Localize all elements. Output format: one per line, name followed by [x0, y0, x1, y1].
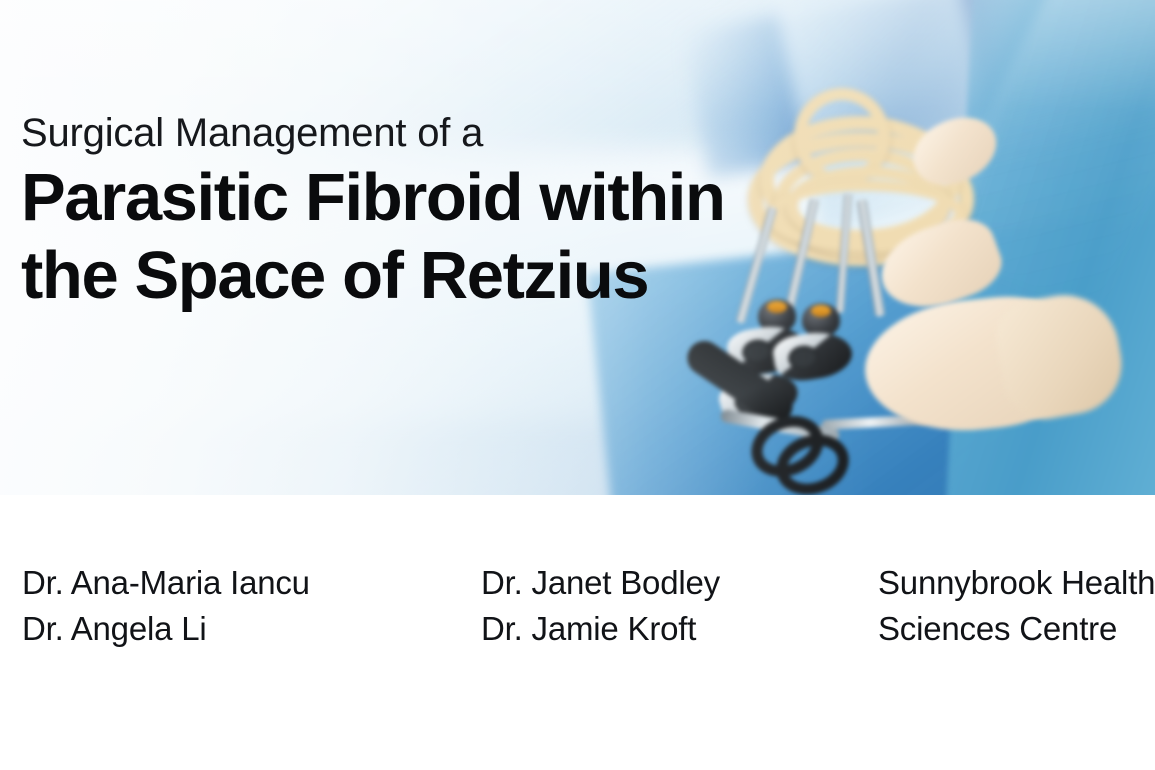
institution-name-line-1: Sunnybrook Health — [878, 560, 1155, 606]
credits-row: Dr. Ana-Maria Iancu Dr. Angela Li Dr. Ja… — [0, 560, 1155, 670]
authors-column-2: Dr. Janet Bodley Dr. Jamie Kroft — [481, 560, 871, 651]
title-slide: Surgical Management of a Parasitic Fibro… — [0, 0, 1155, 770]
hero-image-region: Surgical Management of a Parasitic Fibro… — [0, 0, 1155, 495]
author-name: Dr. Ana-Maria Iancu — [22, 560, 472, 606]
institution-column: Sunnybrook Health Sciences Centre — [878, 560, 1155, 651]
authors-column-1: Dr. Ana-Maria Iancu Dr. Angela Li — [22, 560, 472, 651]
slide-eyebrow: Surgical Management of a — [21, 110, 781, 157]
page-title: Parasitic Fibroid within the Space of Re… — [21, 159, 781, 314]
title-line-1: Parasitic Fibroid within — [21, 159, 781, 237]
institution-name-line-2: Sciences Centre — [878, 606, 1155, 652]
author-name: Dr. Janet Bodley — [481, 560, 871, 606]
author-name: Dr. Jamie Kroft — [481, 606, 871, 652]
author-name: Dr. Angela Li — [22, 606, 472, 652]
title-block: Surgical Management of a Parasitic Fibro… — [21, 110, 781, 315]
footer-band: Dr. Ana-Maria Iancu Dr. Angela Li Dr. Ja… — [0, 495, 1155, 770]
title-line-2: the Space of Retzius — [21, 237, 781, 315]
